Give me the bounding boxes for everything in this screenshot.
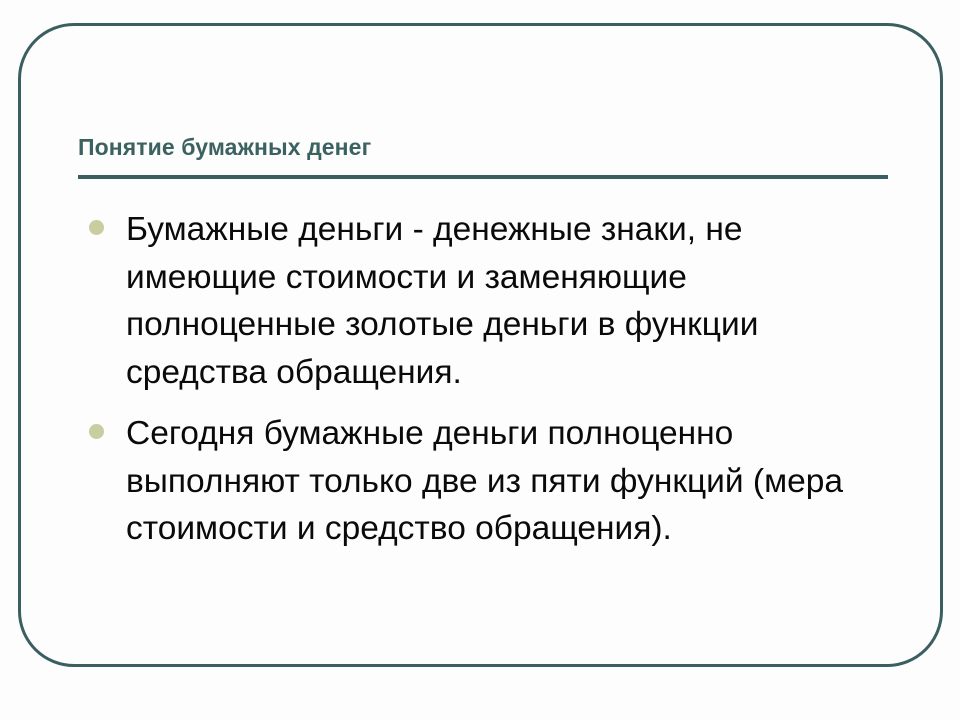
title-underline-rule: [78, 175, 888, 179]
list-item: Сегодня бумажные деньги полноценно выпол…: [86, 410, 896, 553]
bullet-text: Бумажные деньги - денежные знаки, не име…: [126, 206, 896, 396]
slide-title-block: Понятие бумажных денег: [78, 132, 890, 179]
page-title: Понятие бумажных денег: [78, 132, 890, 162]
bullet-text: Сегодня бумажные деньги полноценно выпол…: [126, 410, 896, 553]
list-item: Бумажные деньги - денежные знаки, не име…: [86, 206, 896, 396]
bullet-dot-icon: [89, 424, 104, 439]
presentation-slide: Понятие бумажных денег Бумажные деньги -…: [0, 0, 960, 720]
slide-bullet-list: Бумажные деньги - денежные знаки, не име…: [86, 206, 896, 553]
bullet-dot-icon: [89, 220, 104, 235]
